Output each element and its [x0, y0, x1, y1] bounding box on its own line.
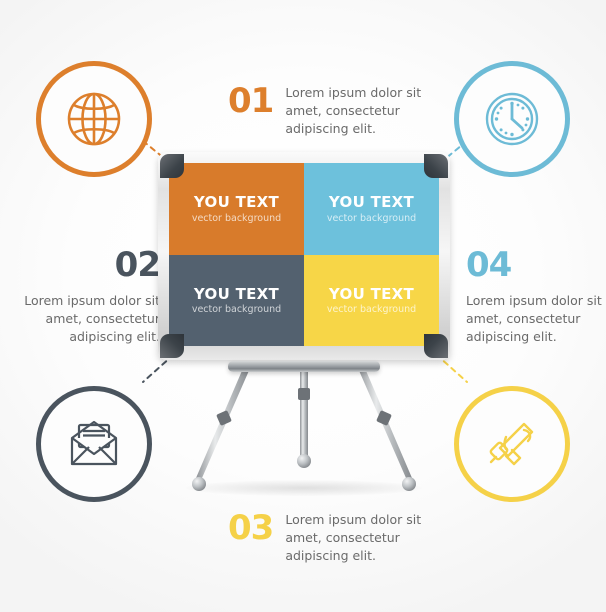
quadrant-bottom-right[interactable]: YOU TEXT vector background	[304, 255, 439, 347]
whiteboard-frame: YOU TEXT vector background YOU TEXT vect…	[158, 152, 450, 360]
clock-icon	[480, 87, 544, 151]
step-text-04: Lorem ipsum dolor sit amet, consectetur …	[466, 292, 606, 346]
step-number-03: 03	[228, 511, 273, 545]
quadrant-subtitle: vector background	[192, 304, 281, 315]
step-block-04: 04 Lorem ipsum dolor sit amet, consectet…	[466, 248, 606, 346]
step-number-04: 04	[466, 248, 606, 282]
frame-corner-top-right	[424, 154, 448, 178]
step-block-01: 01 Lorem ipsum dolor sit amet, consectet…	[228, 84, 423, 138]
quadrant-title: YOU TEXT	[194, 194, 279, 211]
frame-corner-bottom-right	[424, 334, 448, 358]
frame-corner-top-left	[160, 154, 184, 178]
quadrant-subtitle: vector background	[192, 213, 281, 224]
whiteboard-surface: YOU TEXT vector background YOU TEXT vect…	[169, 163, 439, 346]
step-number-01: 01	[228, 84, 273, 118]
quadrant-title: YOU TEXT	[329, 194, 414, 211]
badge-clock[interactable]	[454, 61, 570, 177]
quadrant-title: YOU TEXT	[329, 286, 414, 303]
quadrant-bottom-left[interactable]: YOU TEXT vector background	[169, 255, 304, 347]
step-text-03: Lorem ipsum dolor sit amet, consectetur …	[285, 511, 423, 565]
board-tray	[228, 361, 380, 372]
frame-corner-bottom-left	[160, 334, 184, 358]
step-text-02: Lorem ipsum dolor sit amet, consectetur …	[8, 292, 160, 346]
step-text-01: Lorem ipsum dolor sit amet, consectetur …	[285, 84, 423, 138]
envelope-icon	[62, 414, 126, 474]
quadrant-top-left[interactable]: YOU TEXT vector background	[169, 163, 304, 255]
quadrant-subtitle: vector background	[327, 213, 416, 224]
badge-megaphone[interactable]	[454, 386, 570, 502]
step-number-02: 02	[8, 248, 160, 282]
quadrant-top-right[interactable]: YOU TEXT vector background	[304, 163, 439, 255]
whiteboard: YOU TEXT vector background YOU TEXT vect…	[158, 152, 450, 360]
quadrant-subtitle: vector background	[327, 304, 416, 315]
infographic-canvas: 01 Lorem ipsum dolor sit amet, consectet…	[0, 0, 606, 612]
tripod-legs	[158, 360, 450, 500]
globe-icon	[63, 88, 125, 150]
megaphone-icon	[480, 412, 544, 476]
badge-globe[interactable]	[36, 61, 152, 177]
step-block-02: 02 Lorem ipsum dolor sit amet, consectet…	[8, 248, 160, 346]
badge-envelope[interactable]	[36, 386, 152, 502]
step-block-03: 03 Lorem ipsum dolor sit amet, consectet…	[228, 511, 423, 565]
quadrant-title: YOU TEXT	[194, 286, 279, 303]
